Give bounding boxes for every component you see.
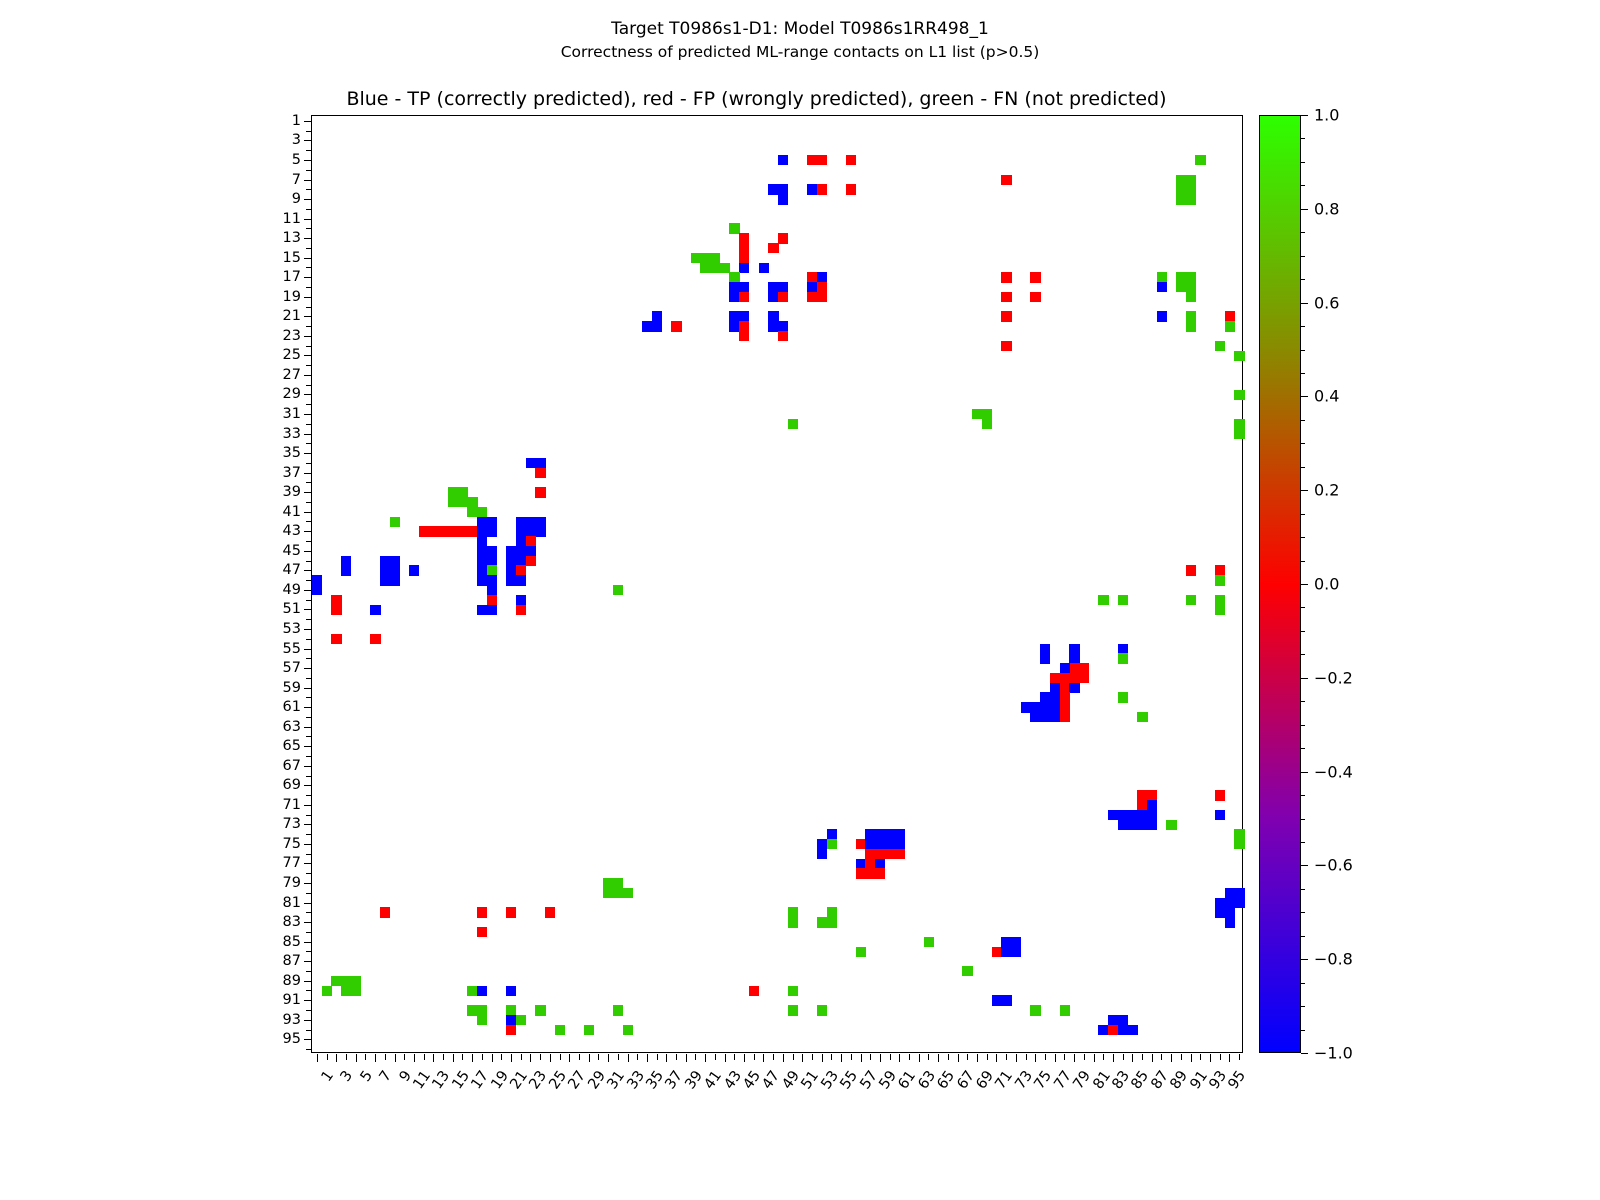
x-axis-tick <box>424 1054 425 1060</box>
y-axis-tick <box>306 600 312 601</box>
y-axis-tick <box>304 649 312 650</box>
y-axis-label: 83 <box>283 914 301 930</box>
y-axis-label: 7 <box>292 172 301 188</box>
x-axis-tick <box>356 1054 357 1062</box>
x-axis-tick <box>647 1054 648 1062</box>
contact-cell <box>778 194 788 204</box>
colorbar-tick <box>1301 1053 1308 1054</box>
x-axis-tick <box>1016 1054 1017 1062</box>
y-axis-tick <box>304 219 312 220</box>
contact-cell <box>759 263 769 273</box>
colorbar-minor-tick <box>1301 162 1305 163</box>
contact-cell <box>856 947 866 957</box>
x-axis-tick <box>996 1054 997 1062</box>
y-axis-tick <box>306 228 312 229</box>
y-axis-label: 79 <box>283 875 301 891</box>
x-axis-tick <box>1055 1054 1056 1062</box>
contact-cell <box>1215 341 1225 351</box>
y-axis-tick <box>304 473 312 474</box>
y-axis-tick <box>304 922 312 923</box>
colorbar-tick-label: 1.0 <box>1314 106 1339 125</box>
y-axis-tick <box>306 1010 312 1011</box>
x-axis-tick <box>375 1054 376 1062</box>
y-axis-tick <box>304 375 312 376</box>
y-axis-tick <box>304 570 312 571</box>
x-axis-tick <box>521 1054 522 1060</box>
x-axis-label: 41 <box>702 1068 726 1092</box>
contact-cell <box>778 155 788 165</box>
x-axis-tick <box>1026 1054 1027 1060</box>
contact-cell <box>1186 321 1196 331</box>
y-axis-tick <box>306 736 312 737</box>
x-axis-tick <box>327 1054 328 1060</box>
contact-cell <box>817 184 827 194</box>
contact-cell <box>1128 1025 1138 1035</box>
y-axis-tick <box>304 668 312 669</box>
contact-cell <box>526 556 536 566</box>
contact-cell <box>331 634 341 644</box>
colorbar-tick <box>1301 303 1308 304</box>
y-axis-label: 17 <box>283 269 301 285</box>
y-axis-label: 77 <box>283 855 301 871</box>
contact-cell <box>506 1025 516 1035</box>
x-axis-tick <box>1239 1054 1240 1060</box>
y-axis-tick <box>306 561 312 562</box>
y-axis-tick <box>306 619 312 620</box>
x-axis-tick <box>705 1054 706 1062</box>
colorbar-minor-tick <box>1301 185 1305 186</box>
y-axis-label: 95 <box>283 1031 301 1047</box>
colorbar-minor-tick <box>1301 350 1305 351</box>
contact-cell <box>312 585 322 595</box>
x-axis-tick <box>1220 1054 1221 1060</box>
x-axis-tick <box>676 1054 677 1060</box>
contact-cell <box>1234 351 1244 361</box>
y-axis-label: 13 <box>283 230 301 246</box>
colorbar-minor-tick <box>1301 654 1305 655</box>
y-axis-tick <box>304 883 312 884</box>
y-axis-label: 59 <box>283 680 301 696</box>
y-axis-label: 61 <box>283 699 301 715</box>
contact-cell <box>370 605 380 615</box>
x-axis-tick <box>773 1054 774 1060</box>
contact-cell <box>652 321 662 331</box>
y-axis-label: 75 <box>283 836 301 852</box>
y-axis-tick <box>306 170 312 171</box>
contact-cell <box>1215 575 1225 585</box>
y-axis-tick <box>306 482 312 483</box>
contact-cell <box>1118 653 1128 663</box>
y-axis-label: 49 <box>283 582 301 598</box>
y-axis-tick <box>306 756 312 757</box>
y-axis-tick <box>306 776 312 777</box>
contact-cell <box>390 575 400 585</box>
x-axis-tick <box>511 1054 512 1062</box>
colorbar-tick-label: 0.2 <box>1314 481 1339 500</box>
contact-cell <box>788 917 798 927</box>
contact-cell <box>535 526 545 536</box>
x-axis-label: 7 <box>377 1068 395 1085</box>
x-axis-tick <box>1064 1054 1065 1060</box>
y-axis-tick <box>304 824 312 825</box>
contact-cell <box>1186 595 1196 605</box>
x-axis-tick <box>618 1054 619 1060</box>
contact-cell <box>331 605 341 615</box>
contact-cell <box>1079 673 1089 683</box>
x-axis-tick <box>453 1054 454 1062</box>
contact-cell <box>1001 995 1011 1005</box>
contact-cell <box>487 605 497 615</box>
y-axis-label: 29 <box>283 386 301 402</box>
contact-cell <box>584 1025 594 1035</box>
colorbar-minor-tick <box>1301 889 1305 890</box>
x-axis-tick <box>404 1054 405 1060</box>
y-axis-tick <box>306 521 312 522</box>
contact-cell <box>768 243 778 253</box>
y-axis-tick <box>306 248 312 249</box>
x-axis-tick <box>861 1054 862 1062</box>
x-axis-tick <box>890 1054 891 1060</box>
y-axis-tick <box>306 385 312 386</box>
colorbar-minor-tick <box>1301 865 1305 866</box>
x-axis-tick <box>695 1054 696 1060</box>
y-axis-tick <box>306 815 312 816</box>
x-axis-tick <box>831 1054 832 1060</box>
y-axis-tick <box>306 541 312 542</box>
x-axis-tick <box>938 1054 939 1062</box>
colorbar-tick <box>1301 490 1308 491</box>
colorbar-tick <box>1301 396 1308 397</box>
y-axis-tick <box>306 209 312 210</box>
x-axis-tick <box>1123 1054 1124 1060</box>
contact-cell <box>477 986 487 996</box>
colorbar-minor-tick <box>1301 725 1305 726</box>
y-axis-label: 33 <box>283 426 301 442</box>
y-axis-tick <box>306 1049 312 1050</box>
contact-cell <box>788 419 798 429</box>
x-axis-tick <box>1113 1054 1114 1062</box>
contact-cell <box>982 419 992 429</box>
contact-cell <box>778 233 788 243</box>
x-axis-label: 55 <box>838 1068 862 1092</box>
contact-cell <box>846 184 856 194</box>
y-axis-label: 11 <box>283 211 301 227</box>
contact-cell <box>1186 565 1196 575</box>
y-axis-tick <box>304 297 312 298</box>
x-axis-label: 65 <box>935 1068 959 1092</box>
y-axis-label: 43 <box>283 523 301 539</box>
contact-cell <box>778 292 788 302</box>
y-axis-label: 73 <box>283 816 301 832</box>
x-axis-tick <box>657 1054 658 1060</box>
contact-cell <box>1030 272 1040 282</box>
y-axis-tick <box>306 346 312 347</box>
contact-cell <box>477 927 487 937</box>
colorbar-tick-label: −0.6 <box>1314 856 1353 875</box>
contact-cell <box>1137 712 1147 722</box>
contact-cell <box>827 839 837 849</box>
contact-cell <box>1069 683 1079 693</box>
contact-cell <box>370 634 380 644</box>
chart-title-line-1: Target T0986s1-D1: Model T0986s1RR498_1 <box>0 18 1600 41</box>
y-axis-tick <box>304 316 312 317</box>
y-axis-label: 35 <box>283 445 301 461</box>
y-axis-tick <box>306 502 312 503</box>
x-axis-label: 95 <box>1226 1068 1250 1092</box>
contact-cell <box>1157 282 1167 292</box>
chart-title-block: Target T0986s1-D1: Model T0986s1RR498_1 … <box>0 18 1600 63</box>
y-axis-label: 1 <box>292 113 301 129</box>
x-axis-tick <box>1210 1054 1211 1062</box>
colorbar-tick-label: −0.4 <box>1314 762 1353 781</box>
colorbar-tick <box>1301 209 1308 210</box>
x-axis-tick <box>715 1054 716 1060</box>
colorbar-minor-tick <box>1301 279 1305 280</box>
x-axis-tick <box>385 1054 386 1060</box>
contact-cell <box>487 526 497 536</box>
x-axis-tick <box>1161 1054 1162 1060</box>
contact-cell <box>1225 917 1235 927</box>
y-axis-label: 57 <box>283 660 301 676</box>
x-axis-tick <box>880 1054 881 1062</box>
y-axis-label: 89 <box>283 973 301 989</box>
y-axis-tick <box>304 707 312 708</box>
x-axis-tick <box>1035 1054 1036 1062</box>
y-axis-label: 5 <box>292 152 301 168</box>
y-axis-tick <box>306 307 312 308</box>
y-axis-label: 3 <box>292 132 301 148</box>
colorbar-minor-tick <box>1301 959 1305 960</box>
contact-cell <box>535 1005 545 1015</box>
y-axis-tick <box>304 1020 312 1021</box>
y-axis-label: 55 <box>283 641 301 657</box>
chart-legend-caption: Blue - TP (correctly predicted), red - F… <box>0 88 1513 110</box>
contact-cell <box>788 1005 798 1015</box>
y-axis-tick <box>306 267 312 268</box>
y-axis-tick <box>304 199 312 200</box>
colorbar-minor-tick <box>1301 1006 1305 1007</box>
y-axis-tick <box>304 863 312 864</box>
colorbar-tick-label: 0.4 <box>1314 387 1339 406</box>
y-axis-tick <box>306 658 312 659</box>
y-axis-tick <box>304 180 312 181</box>
y-axis-tick <box>306 854 312 855</box>
colorbar-minor-tick <box>1301 537 1305 538</box>
y-axis-tick <box>306 912 312 913</box>
contact-cell <box>506 986 516 996</box>
contact-cell <box>1234 898 1244 908</box>
x-axis-label: 17 <box>469 1068 493 1092</box>
x-axis-tick <box>589 1054 590 1062</box>
contact-cell <box>322 986 332 996</box>
y-axis-tick <box>304 805 312 806</box>
x-axis-tick <box>919 1054 920 1062</box>
colorbar-minor-tick <box>1301 936 1305 937</box>
y-axis-tick <box>304 394 312 395</box>
y-axis-tick <box>304 688 312 689</box>
y-axis-tick <box>304 531 312 532</box>
y-axis-tick <box>304 551 312 552</box>
y-axis-tick <box>304 981 312 982</box>
contact-cell <box>817 1005 827 1015</box>
contact-cell <box>535 487 545 497</box>
colorbar-minor-tick <box>1301 467 1305 468</box>
x-axis-tick <box>1094 1054 1095 1062</box>
y-axis-tick <box>306 287 312 288</box>
x-axis-tick <box>754 1054 755 1060</box>
y-axis-tick <box>304 277 312 278</box>
x-axis-tick <box>414 1054 415 1062</box>
x-axis-tick <box>608 1054 609 1062</box>
x-axis-tick <box>928 1054 929 1060</box>
x-axis-tick <box>967 1054 968 1060</box>
contact-cell <box>516 575 526 585</box>
y-axis-tick <box>306 580 312 581</box>
x-axis-tick <box>579 1054 580 1060</box>
y-axis-label: 45 <box>283 543 301 559</box>
colorbar-minor-tick <box>1301 420 1305 421</box>
y-axis-tick <box>304 336 312 337</box>
x-axis-tick <box>1142 1054 1143 1060</box>
contact-cell <box>477 907 487 917</box>
x-axis-tick <box>395 1054 396 1062</box>
y-axis-label: 85 <box>283 934 301 950</box>
contact-cell <box>516 605 526 615</box>
colorbar-minor-tick <box>1301 795 1305 796</box>
y-axis-tick <box>306 951 312 952</box>
y-axis-tick <box>304 258 312 259</box>
contact-cell <box>1215 790 1225 800</box>
y-axis-tick <box>304 1039 312 1040</box>
colorbar-tick-label: −0.8 <box>1314 950 1353 969</box>
contact-cell <box>846 155 856 165</box>
contact-cell <box>1195 155 1205 165</box>
y-axis-label: 25 <box>283 347 301 363</box>
y-axis-tick <box>304 942 312 943</box>
x-axis-tick <box>725 1054 726 1062</box>
contact-cell <box>1030 292 1040 302</box>
colorbar-minor-tick <box>1301 748 1305 749</box>
y-axis-label: 41 <box>283 504 301 520</box>
contact-cell <box>1011 947 1021 957</box>
y-axis-tick <box>306 795 312 796</box>
y-axis-tick <box>306 150 312 151</box>
y-axis-label: 21 <box>283 308 301 324</box>
y-axis-label: 67 <box>283 758 301 774</box>
contact-cell <box>1001 311 1011 321</box>
contact-cell <box>749 986 759 996</box>
y-axis-label: 15 <box>283 250 301 266</box>
contact-cell <box>623 888 633 898</box>
y-axis-label: 71 <box>283 797 301 813</box>
x-axis-tick <box>598 1054 599 1060</box>
y-axis-tick <box>306 443 312 444</box>
y-axis-tick <box>304 453 312 454</box>
y-axis-tick <box>306 971 312 972</box>
y-axis-tick <box>306 424 312 425</box>
contact-cell <box>778 331 788 341</box>
colorbar-minor-tick <box>1301 983 1305 984</box>
x-axis-tick <box>1191 1054 1192 1062</box>
y-axis-label: 39 <box>283 484 301 500</box>
x-axis-tick <box>1132 1054 1133 1062</box>
x-axis-tick <box>501 1054 502 1060</box>
y-axis-tick <box>304 512 312 513</box>
y-axis-label: 47 <box>283 562 301 578</box>
contact-cell <box>1001 272 1011 282</box>
colorbar-minor-tick <box>1301 631 1305 632</box>
colorbar-tick-label: 0.6 <box>1314 293 1339 312</box>
x-axis-label: 31 <box>605 1068 629 1092</box>
contact-cell <box>827 917 837 927</box>
colorbar-minor-tick <box>1301 701 1305 702</box>
contact-cell <box>1215 810 1225 820</box>
colorbar-minor-tick <box>1301 1030 1305 1031</box>
x-axis-label: 1 <box>319 1068 337 1085</box>
x-axis-tick <box>1152 1054 1153 1062</box>
x-axis-tick <box>763 1054 764 1062</box>
x-axis-tick <box>1229 1054 1230 1062</box>
colorbar-tick-label: 0.8 <box>1314 199 1339 218</box>
contact-cell <box>613 585 623 595</box>
y-axis-label: 9 <box>292 191 301 207</box>
y-axis-tick <box>306 131 312 132</box>
contact-cell <box>390 517 400 527</box>
y-axis-tick <box>306 932 312 933</box>
y-axis-tick <box>304 727 312 728</box>
x-axis-tick <box>899 1054 900 1062</box>
y-axis-label: 81 <box>283 895 301 911</box>
contact-map-cells <box>312 116 1242 1052</box>
y-axis-label: 19 <box>283 289 301 305</box>
y-axis-tick <box>304 609 312 610</box>
x-axis-tick <box>841 1054 842 1062</box>
y-axis-tick <box>304 766 312 767</box>
colorbar-minor-tick <box>1301 772 1305 773</box>
y-axis-tick <box>304 903 312 904</box>
contact-cell <box>739 331 749 341</box>
contact-cell <box>516 1015 526 1025</box>
x-axis-tick <box>734 1054 735 1060</box>
y-axis-tick <box>306 893 312 894</box>
contact-cell <box>1001 292 1011 302</box>
x-axis-tick <box>977 1054 978 1062</box>
x-axis-tick <box>744 1054 745 1062</box>
contact-cell <box>1234 429 1244 439</box>
contact-cell <box>1166 820 1176 830</box>
contact-cell <box>545 907 555 917</box>
y-axis-label: 51 <box>283 601 301 617</box>
x-axis-tick <box>482 1054 483 1060</box>
x-axis-tick <box>851 1054 852 1060</box>
colorbar-minor-tick <box>1301 842 1305 843</box>
y-axis-tick <box>304 785 312 786</box>
x-axis-tick <box>346 1054 347 1060</box>
y-axis-tick <box>306 365 312 366</box>
x-axis-tick <box>783 1054 784 1062</box>
x-axis-label: 5 <box>357 1068 375 1085</box>
contact-cell <box>1225 321 1235 331</box>
y-axis-tick <box>304 746 312 747</box>
contact-cell <box>623 1025 633 1035</box>
y-axis-label: 93 <box>283 1012 301 1028</box>
colorbar-minor-tick <box>1301 607 1305 608</box>
colorbar-tick <box>1301 115 1308 116</box>
y-axis-tick <box>306 189 312 190</box>
x-axis-tick <box>909 1054 910 1060</box>
x-axis-tick <box>686 1054 687 1062</box>
y-axis-tick <box>306 990 312 991</box>
